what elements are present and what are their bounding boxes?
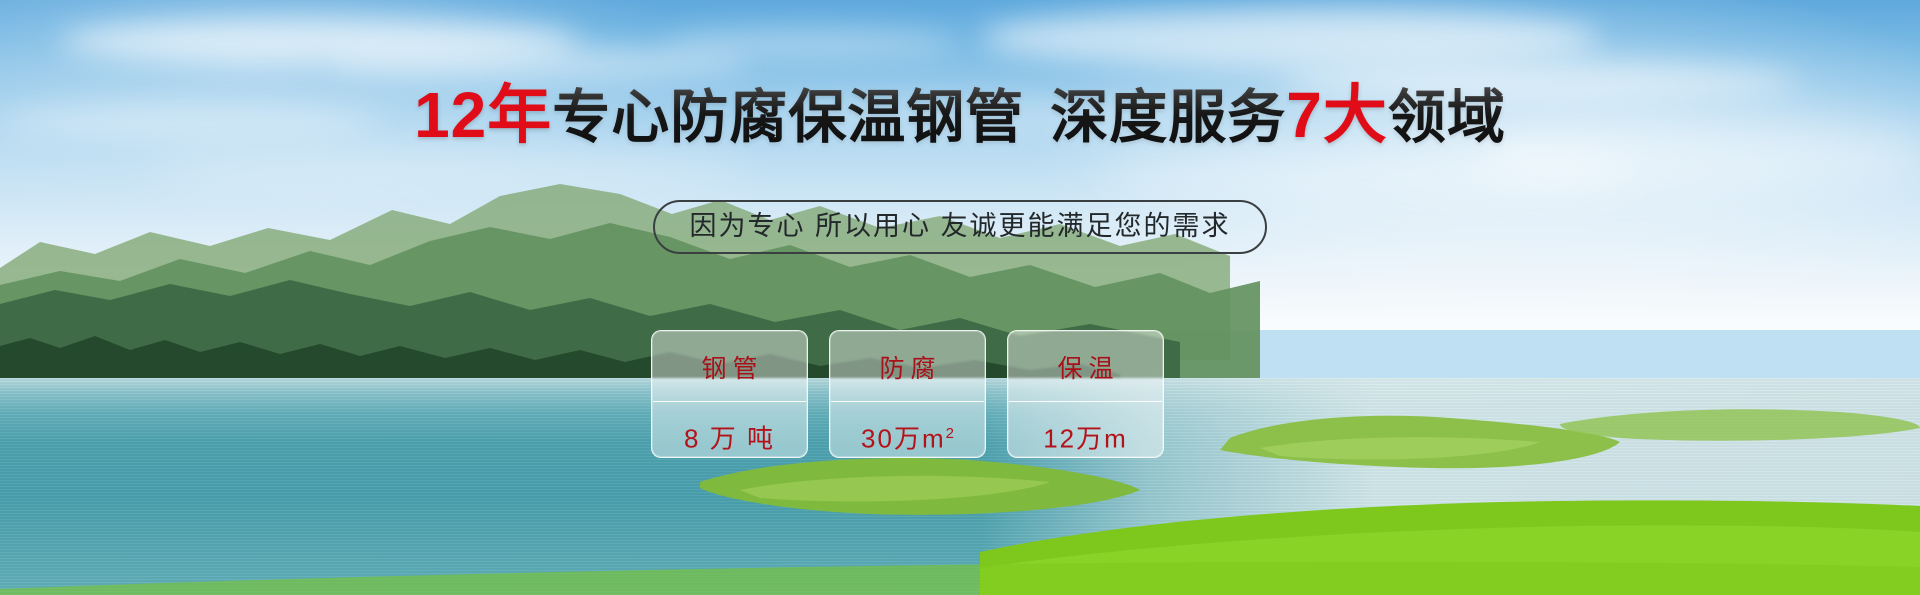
headline-segment-fields: 领域	[1388, 85, 1506, 150]
banner-subtitle: 因为专心 所以用心 友诚更能满足您的需求	[653, 200, 1266, 254]
marsh-island-far-icon	[1560, 398, 1920, 452]
headline-segment-years: 12年	[414, 79, 552, 151]
stat-cards: 钢管 8 万 吨 防腐 30万m2 保温 12万m	[651, 330, 1164, 458]
stat-card-value-text: 12万m	[1043, 424, 1128, 454]
hero-banner: 12年专心防腐保温钢管深度服务7大领域 因为专心 所以用心 友诚更能满足您的需求…	[0, 0, 1920, 595]
banner-subtitle-container: 因为专心 所以用心 友诚更能满足您的需求	[0, 200, 1920, 254]
stat-card-divider	[1009, 401, 1162, 402]
stat-card-value-text: 30万m	[861, 424, 946, 454]
cloud-icon	[330, 48, 750, 78]
stat-card-title: 保温	[1051, 354, 1119, 384]
banner-headline: 12年专心防腐保温钢管深度服务7大领域	[0, 80, 1920, 153]
headline-segment-seven: 7大	[1286, 79, 1388, 151]
stat-card-value: 30万m2	[861, 418, 954, 455]
stat-card-value-sup: 2	[946, 425, 954, 442]
stat-card-value: 8 万 吨	[684, 418, 775, 455]
marsh-island-right-icon	[1200, 408, 1620, 478]
stat-card-title: 防腐	[873, 354, 941, 384]
stat-card-anticorrosion[interactable]: 防腐 30万m2	[829, 330, 986, 458]
cloud-icon	[980, 8, 1600, 68]
stat-card-divider	[653, 401, 806, 402]
stat-card-insulation[interactable]: 保温 12万m	[1007, 330, 1164, 458]
stat-card-steel-pipe[interactable]: 钢管 8 万 吨	[651, 330, 808, 458]
stat-card-divider	[831, 401, 984, 402]
stat-card-value-text: 8 万 吨	[684, 424, 775, 454]
stat-card-value: 12万m	[1043, 418, 1128, 455]
stat-card-title: 钢管	[695, 354, 763, 384]
cloud-icon	[660, 30, 960, 56]
grass-bottom-strip-icon	[0, 555, 1920, 595]
headline-segment-service: 深度服务	[1050, 85, 1286, 150]
headline-segment-focus: 专心防腐保温钢管	[552, 85, 1024, 150]
